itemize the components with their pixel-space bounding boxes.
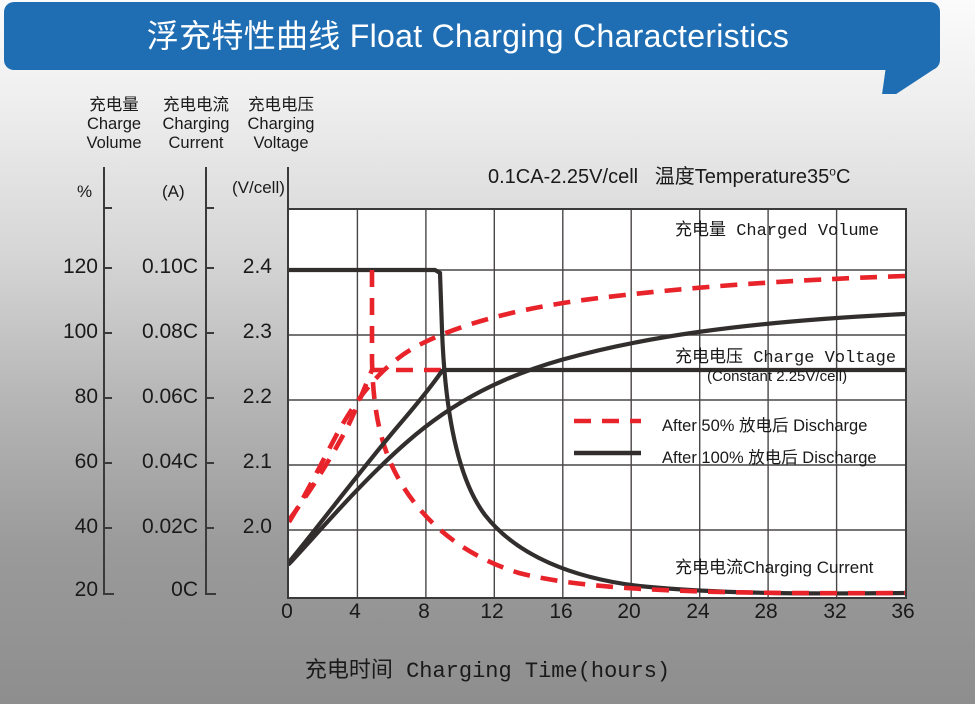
axis-spine-charge-volume [103, 167, 105, 595]
grid-horizontal [289, 270, 905, 530]
annotation-charge-voltage-en: Charge Voltage [753, 349, 896, 368]
axis-header-charging-voltage-en1: Charging [233, 115, 329, 134]
axis-unit-volt-per-cell: (V/cell) [232, 178, 285, 198]
tick-cc-008 [205, 332, 214, 334]
ticklabel-charge-volume-4: 40 [40, 515, 98, 539]
ticklabel-charging-voltage-0: 2.4 [222, 255, 272, 279]
ticklabel-charge-volume-2: 80 [40, 385, 98, 409]
ticklabel-charge-volume-0: 120 [40, 255, 98, 279]
axis-header-charging-current-en1: Charging [148, 115, 244, 134]
axis-header-charging-voltage-cn: 充电电压 [233, 96, 329, 115]
tick-cv-40 [103, 527, 112, 529]
ticklabel-charging-current-2: 0.06C [122, 385, 198, 409]
xticklabel-4: 16 [541, 600, 581, 624]
ticklabel-charge-volume-1: 100 [40, 320, 98, 344]
annotation-charge-voltage-cn: 充电电压 [675, 347, 743, 366]
title-banner: 浮充特性曲线 Float Charging Characteristics [0, 0, 975, 100]
x-axis-title: 充电时间 Charging Time(hours) [0, 652, 975, 684]
xticklabel-3: 12 [472, 600, 512, 624]
tick-cc-004 [205, 462, 214, 464]
annotation-charge-voltage-sub: (Constant 2.25V/cell) [707, 368, 847, 385]
xticklabel-9: 36 [883, 600, 923, 624]
legend-label-0: After 50% 放电后 Discharge [662, 412, 867, 436]
curve-volume-50pct [289, 276, 905, 522]
degree-icon: o [829, 164, 836, 178]
ticklabel-charging-current-5: 0C [122, 578, 198, 602]
ticklabel-charging-voltage-2: 2.2 [222, 385, 272, 409]
tick-cc-002 [205, 527, 214, 529]
axis-header-charging-voltage: 充电电压 Charging Voltage [233, 96, 329, 153]
temperature-label-en: Temperature35 [695, 166, 830, 188]
ticklabel-charge-volume-3: 60 [40, 450, 98, 474]
legend-label-1: After 100% 放电后 Discharge [662, 444, 877, 468]
axis-cap-charge-volume [103, 593, 114, 595]
xticklabel-2: 8 [404, 600, 444, 624]
annotation-charging-current: 充电电流Charging Current [675, 553, 873, 578]
tick-cc-006 [205, 397, 214, 399]
annotation-charged-volume-en: Charged Volume [736, 222, 879, 241]
xticklabel-7: 28 [746, 600, 786, 624]
axis-spine-charging-current [205, 167, 207, 595]
tick-cv-80 [103, 397, 112, 399]
xticklabel-0: 0 [267, 600, 307, 624]
ticklabel-charging-voltage-3: 2.1 [222, 450, 272, 474]
axis-header-charging-current-en2: Current [148, 134, 244, 153]
annotation-charged-volume-cn: 充电量 [675, 220, 726, 239]
xticklabel-6: 24 [678, 600, 718, 624]
tick-cv-60 [103, 462, 112, 464]
float-charging-characteristics-chart: 浮充特性曲线 Float Charging Characteristics 充电… [0, 0, 975, 704]
tick-charging-current-top [205, 207, 214, 209]
ticklabel-charging-current-3: 0.04C [122, 450, 198, 474]
axis-header-charging-current: 充电电流 Charging Current [148, 96, 244, 153]
axis-header-charging-current-cn: 充电电流 [148, 96, 244, 115]
condition-text: 0.1CA-2.25V/cell [488, 166, 638, 188]
ticklabel-charging-current-0: 0.10C [122, 255, 198, 279]
temperature-unit: C [836, 166, 850, 188]
axis-unit-ampere: (A) [162, 182, 185, 202]
ticklabel-charging-voltage-1: 2.3 [222, 320, 272, 344]
xticklabel-5: 20 [609, 600, 649, 624]
ticklabel-charge-volume-5: 20 [40, 578, 98, 602]
ticklabel-charging-voltage-4: 2.0 [222, 515, 272, 539]
ticklabel-charging-current-1: 0.08C [122, 320, 198, 344]
axis-cap-charging-current [205, 593, 216, 595]
chart-condition-note: 0.1CA-2.25V/cell 温度Temperature35oC [488, 160, 850, 189]
tick-cc-010 [205, 267, 214, 269]
xticklabel-8: 32 [815, 600, 855, 624]
temperature-label-cn: 温度 [655, 166, 695, 188]
plot-area: 充电量 Charged Volume 充电电压 Charge Voltage (… [287, 208, 907, 599]
xticklabel-1: 4 [335, 600, 375, 624]
tick-cv-100 [103, 332, 112, 334]
banner-tail-icon [882, 68, 936, 94]
tick-charge-volume-top [103, 207, 112, 209]
page-title: 浮充特性曲线 Float Charging Characteristics [0, 0, 936, 68]
curves-svg [289, 210, 905, 597]
axis-header-charging-voltage-en2: Voltage [233, 134, 329, 153]
annotation-charged-volume: 充电量 Charged Volume [675, 215, 879, 241]
annotation-charge-voltage: 充电电压 Charge Voltage [675, 342, 896, 368]
ticklabel-charging-current-4: 0.02C [122, 515, 198, 539]
tick-cv-120 [103, 267, 112, 269]
axis-unit-percent: % [77, 182, 92, 202]
